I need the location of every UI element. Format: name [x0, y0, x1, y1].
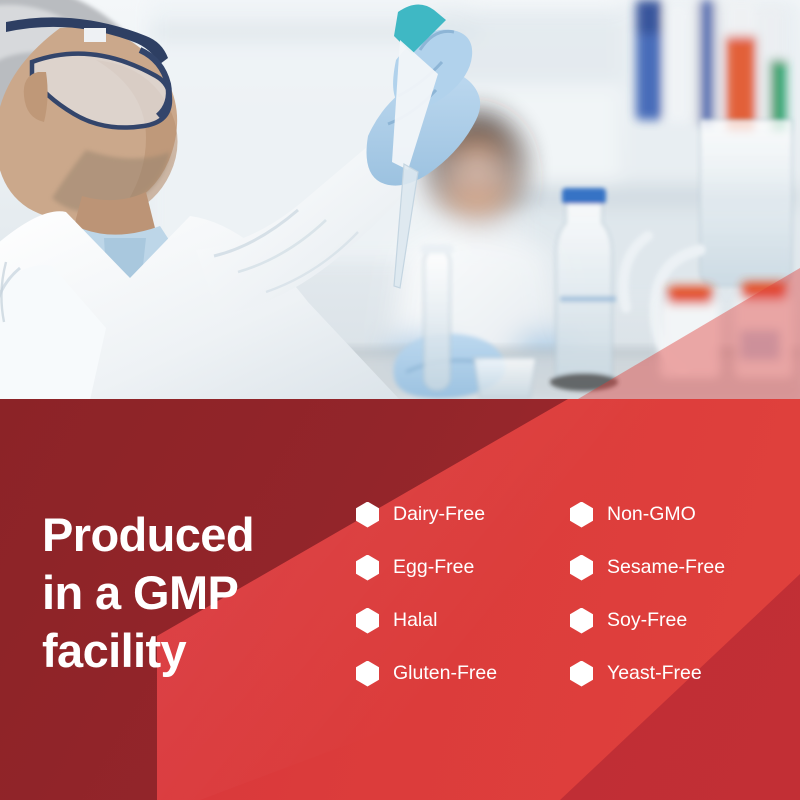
red-content-panel: Produced in a GMP facility Dairy-Free Eg… — [0, 399, 800, 800]
hexagon-bullet-icon — [356, 555, 379, 581]
feature-label: Soy-Free — [607, 611, 687, 631]
headline-line-2: in a GMP — [42, 564, 342, 622]
hexagon-bullet-icon — [570, 502, 593, 528]
hexagon-bullet-icon — [356, 608, 379, 634]
list-item: Halal — [356, 594, 570, 647]
feature-label: Halal — [393, 611, 437, 631]
list-item: Gluten-Free — [356, 647, 570, 700]
feature-list: Dairy-Free Egg-Free Halal Gluten-Free — [356, 488, 800, 700]
list-item: Sesame-Free — [570, 541, 800, 594]
feature-label: Yeast-Free — [607, 664, 702, 684]
feature-label: Egg-Free — [393, 558, 474, 578]
list-item: Dairy-Free — [356, 488, 570, 541]
laboratory-photo — [0, 0, 800, 399]
gmp-facility-banner: Produced in a GMP facility Dairy-Free Eg… — [0, 0, 800, 800]
list-item: Non-GMO — [570, 488, 800, 541]
feature-label: Non-GMO — [607, 505, 696, 525]
feature-column-1: Dairy-Free Egg-Free Halal Gluten-Free — [356, 488, 570, 700]
list-item: Soy-Free — [570, 594, 800, 647]
list-item: Egg-Free — [356, 541, 570, 594]
page-title: Produced in a GMP facility — [42, 506, 342, 680]
hexagon-bullet-icon — [356, 661, 379, 687]
headline-line-3: facility — [42, 622, 342, 680]
feature-label: Gluten-Free — [393, 664, 497, 684]
hexagon-bullet-icon — [356, 502, 379, 528]
hexagon-bullet-icon — [570, 661, 593, 687]
list-item: Yeast-Free — [570, 647, 800, 700]
hexagon-bullet-icon — [570, 555, 593, 581]
feature-label: Sesame-Free — [607, 558, 725, 578]
feature-column-2: Non-GMO Sesame-Free Soy-Free Yeast-Free — [570, 488, 800, 700]
headline-line-1: Produced — [42, 506, 342, 564]
hexagon-bullet-icon — [570, 608, 593, 634]
feature-label: Dairy-Free — [393, 505, 485, 525]
